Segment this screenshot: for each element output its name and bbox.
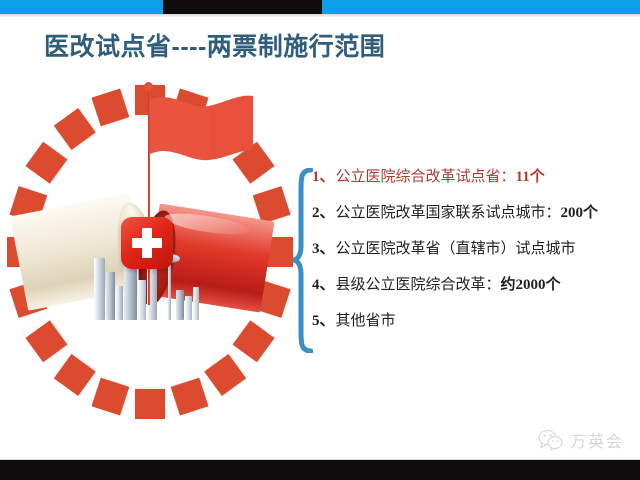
ring-square (171, 378, 209, 416)
medical-cross-icon (121, 217, 173, 269)
list-item: 4、县级公立医院综合改革：约2000个 (312, 273, 632, 294)
curly-brace-icon (291, 168, 313, 353)
watermark: 万英会 (538, 428, 624, 452)
ring-square (204, 354, 246, 396)
list-item-value: 约2000个 (501, 273, 561, 294)
infographic-illustration (0, 72, 300, 432)
list-item-value: 200个 (561, 201, 599, 222)
red-flag-icon (149, 94, 255, 178)
ring-square (54, 108, 96, 150)
flag-finial (144, 82, 153, 91)
ring-square (25, 142, 67, 184)
slide-canvas: 医改试点省----两票制施行范围 (0, 0, 640, 480)
footer-bar (0, 460, 640, 480)
ring-square (135, 389, 165, 419)
page-title: 医改试点省----两票制施行范围 (44, 27, 385, 63)
top-black-block (163, 0, 322, 14)
list-item-label: 公立医院改革省（直辖市）试点城市 (336, 237, 576, 258)
watermark-text: 万英会 (570, 428, 624, 452)
list-item-index: 4、 (312, 273, 335, 294)
list-item-index: 2、 (312, 201, 335, 222)
list-item-index: 3、 (312, 237, 335, 258)
top-bar-shadow (0, 14, 640, 17)
list-item-label: 其他省市 (336, 309, 396, 330)
list-item: 3、公立医院改革省（直辖市）试点城市 (312, 237, 632, 258)
reform-scope-list: 1、公立医院综合改革试点省：11个2、公立医院改革国家联系试点城市：200个3、… (312, 165, 632, 345)
list-item-index: 1、 (312, 165, 335, 186)
list-item-label: 公立医院改革国家联系试点城市： (336, 201, 561, 222)
ring-square (91, 378, 129, 416)
list-item-label: 公立医院综合改革试点省： (336, 165, 516, 186)
list-item: 1、公立医院综合改革试点省：11个 (312, 165, 632, 186)
cross-horizontal-bar (132, 238, 162, 248)
ring-square (91, 88, 129, 126)
list-item: 5、其他省市 (312, 309, 632, 330)
list-item: 2、公立医院改革国家联系试点城市：200个 (312, 201, 632, 222)
list-item-value: 11个 (516, 165, 545, 186)
list-item-label: 县级公立医院综合改革： (336, 273, 501, 294)
list-item-index: 5、 (312, 309, 335, 330)
ring-square (233, 320, 275, 362)
ring-square (54, 354, 96, 396)
ring-square (25, 320, 67, 362)
wechat-logo-icon (538, 429, 564, 451)
